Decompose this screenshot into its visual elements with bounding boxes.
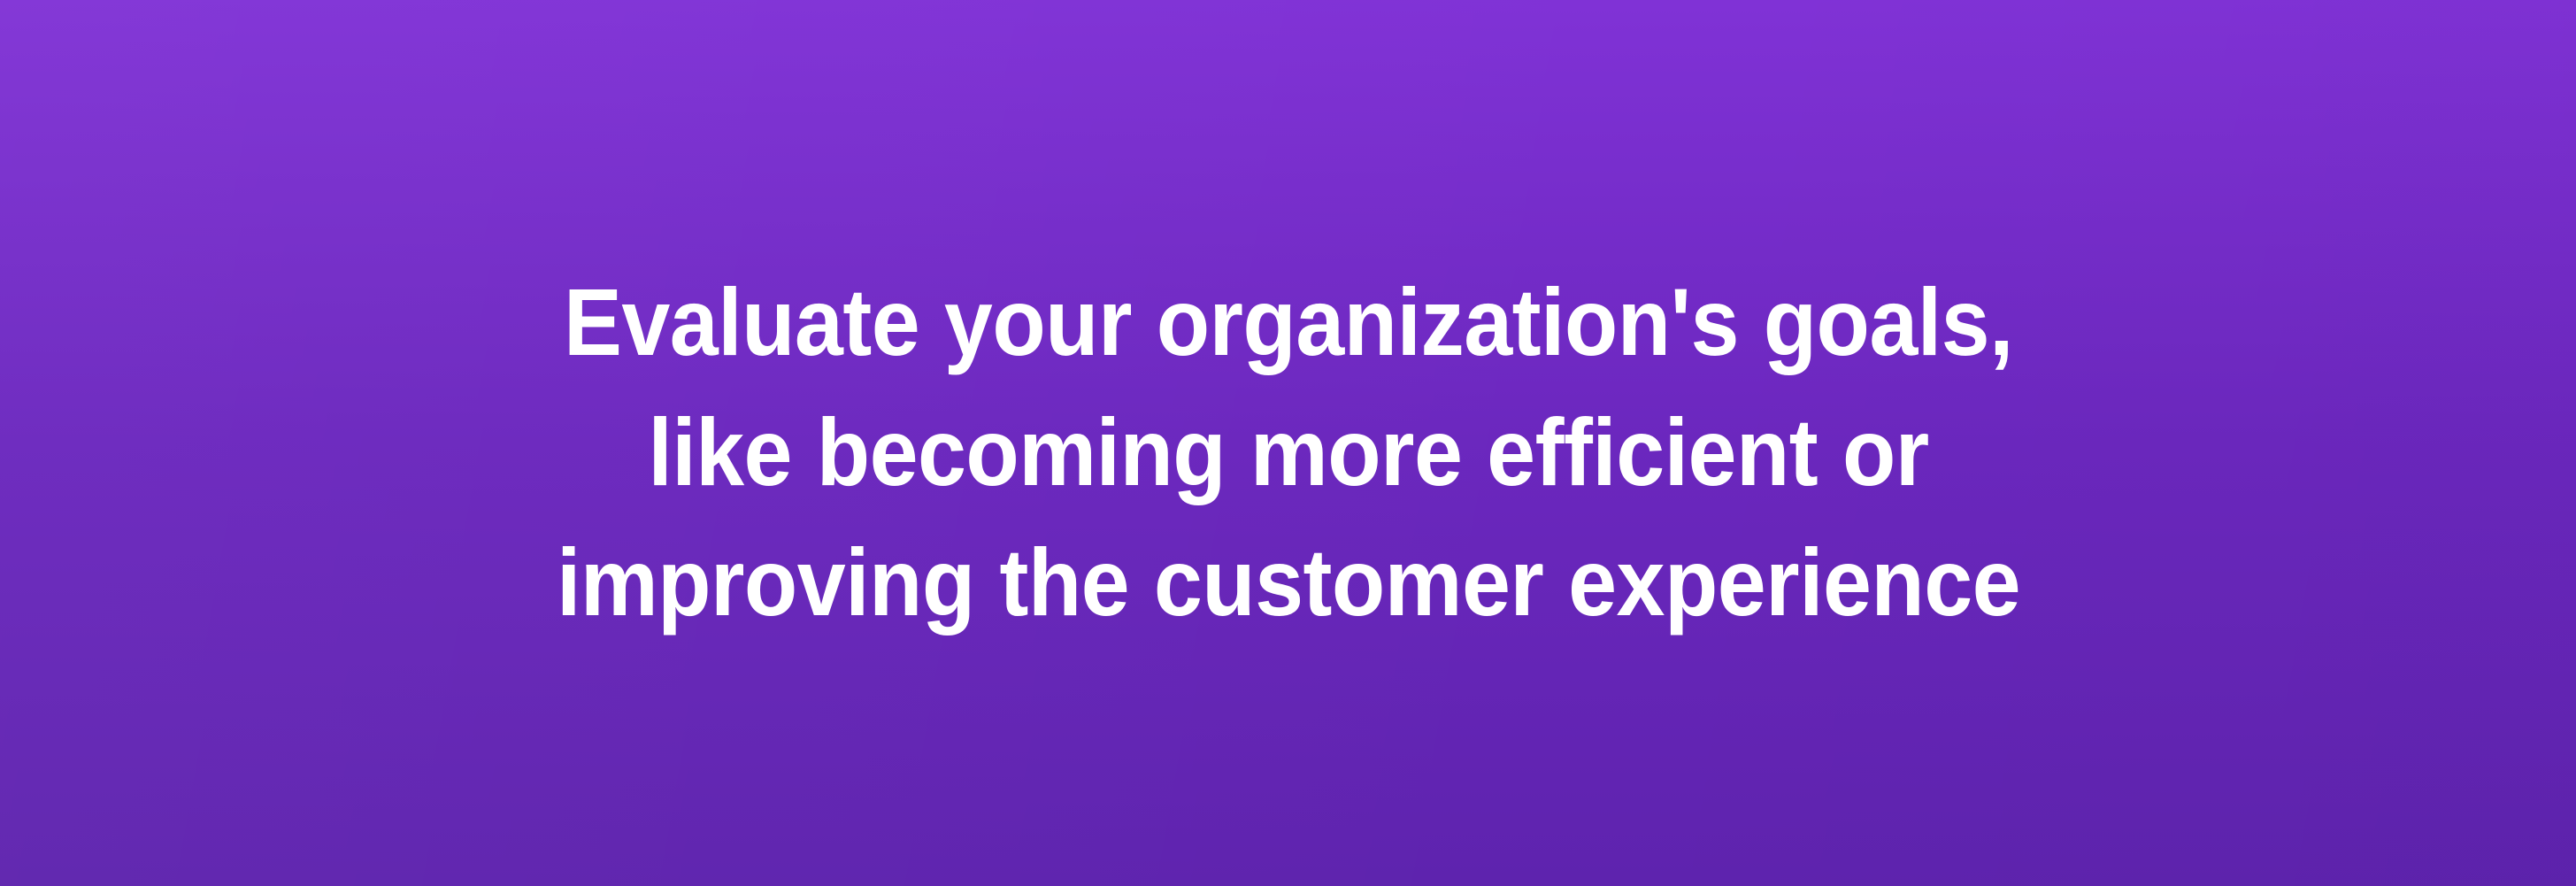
headline-line-2: like becoming more efficient or	[438, 387, 2139, 517]
hero-banner: Evaluate your organization's goals, like…	[0, 0, 2576, 886]
headline-block: Evaluate your organization's goals, like…	[359, 257, 2218, 647]
headline-line-1: Evaluate your organization's goals,	[438, 257, 2139, 387]
headline-line-3: improving the customer experience	[438, 517, 2139, 647]
headline-text: Evaluate your organization's goals, like…	[438, 257, 2139, 647]
